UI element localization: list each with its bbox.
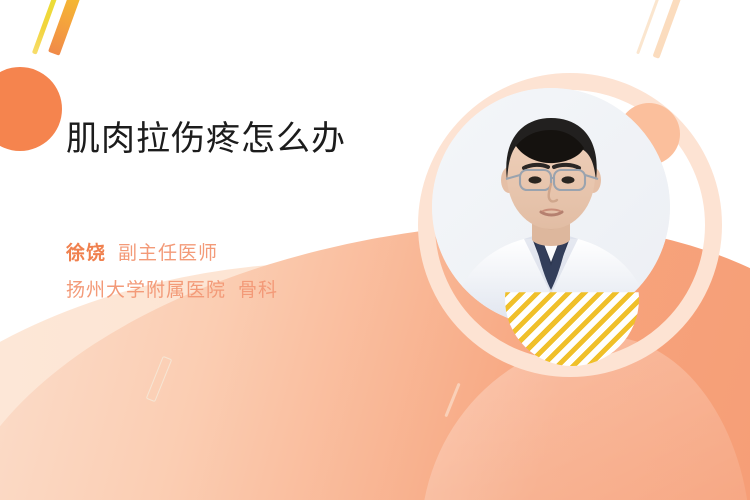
faint-stripe-icon	[444, 383, 460, 418]
doctor-affiliation-line: 扬州大学附属医院骨科	[66, 276, 426, 305]
department-name: 骨科	[238, 280, 278, 301]
outline-stripe-icon	[146, 356, 173, 402]
bottom-wave-highlight-lobe	[401, 324, 750, 500]
page-title: 肌肉拉伤疼怎么办	[66, 118, 426, 161]
avatar	[432, 88, 670, 326]
striped-disc-decoration	[505, 232, 639, 366]
doctor-info-card: 肌肉拉伤疼怎么办 徐饶副主任医师 扬州大学附属医院骨科	[0, 0, 750, 500]
doctor-credit-line: 徐饶副主任医师	[66, 239, 426, 268]
peach-circle-decoration	[618, 103, 680, 165]
card-text-block: 肌肉拉伤疼怎么办 徐饶副主任医师 扬州大学附属医院骨科	[66, 118, 426, 305]
yellow-stripe-icon	[32, 0, 61, 55]
pale-stripe-icon-right	[653, 0, 687, 59]
doctor-name: 徐饶	[66, 243, 106, 264]
pale-stripe-icon-left	[636, 0, 663, 54]
hospital-name: 扬州大学附属医院	[66, 280, 226, 301]
peach-ring-decoration	[418, 73, 722, 377]
orange-stripe-icon	[48, 0, 86, 56]
orange-circle-decoration	[0, 67, 62, 151]
doctor-title: 副主任医师	[118, 243, 218, 264]
doctor-portrait-illustration	[432, 88, 670, 326]
